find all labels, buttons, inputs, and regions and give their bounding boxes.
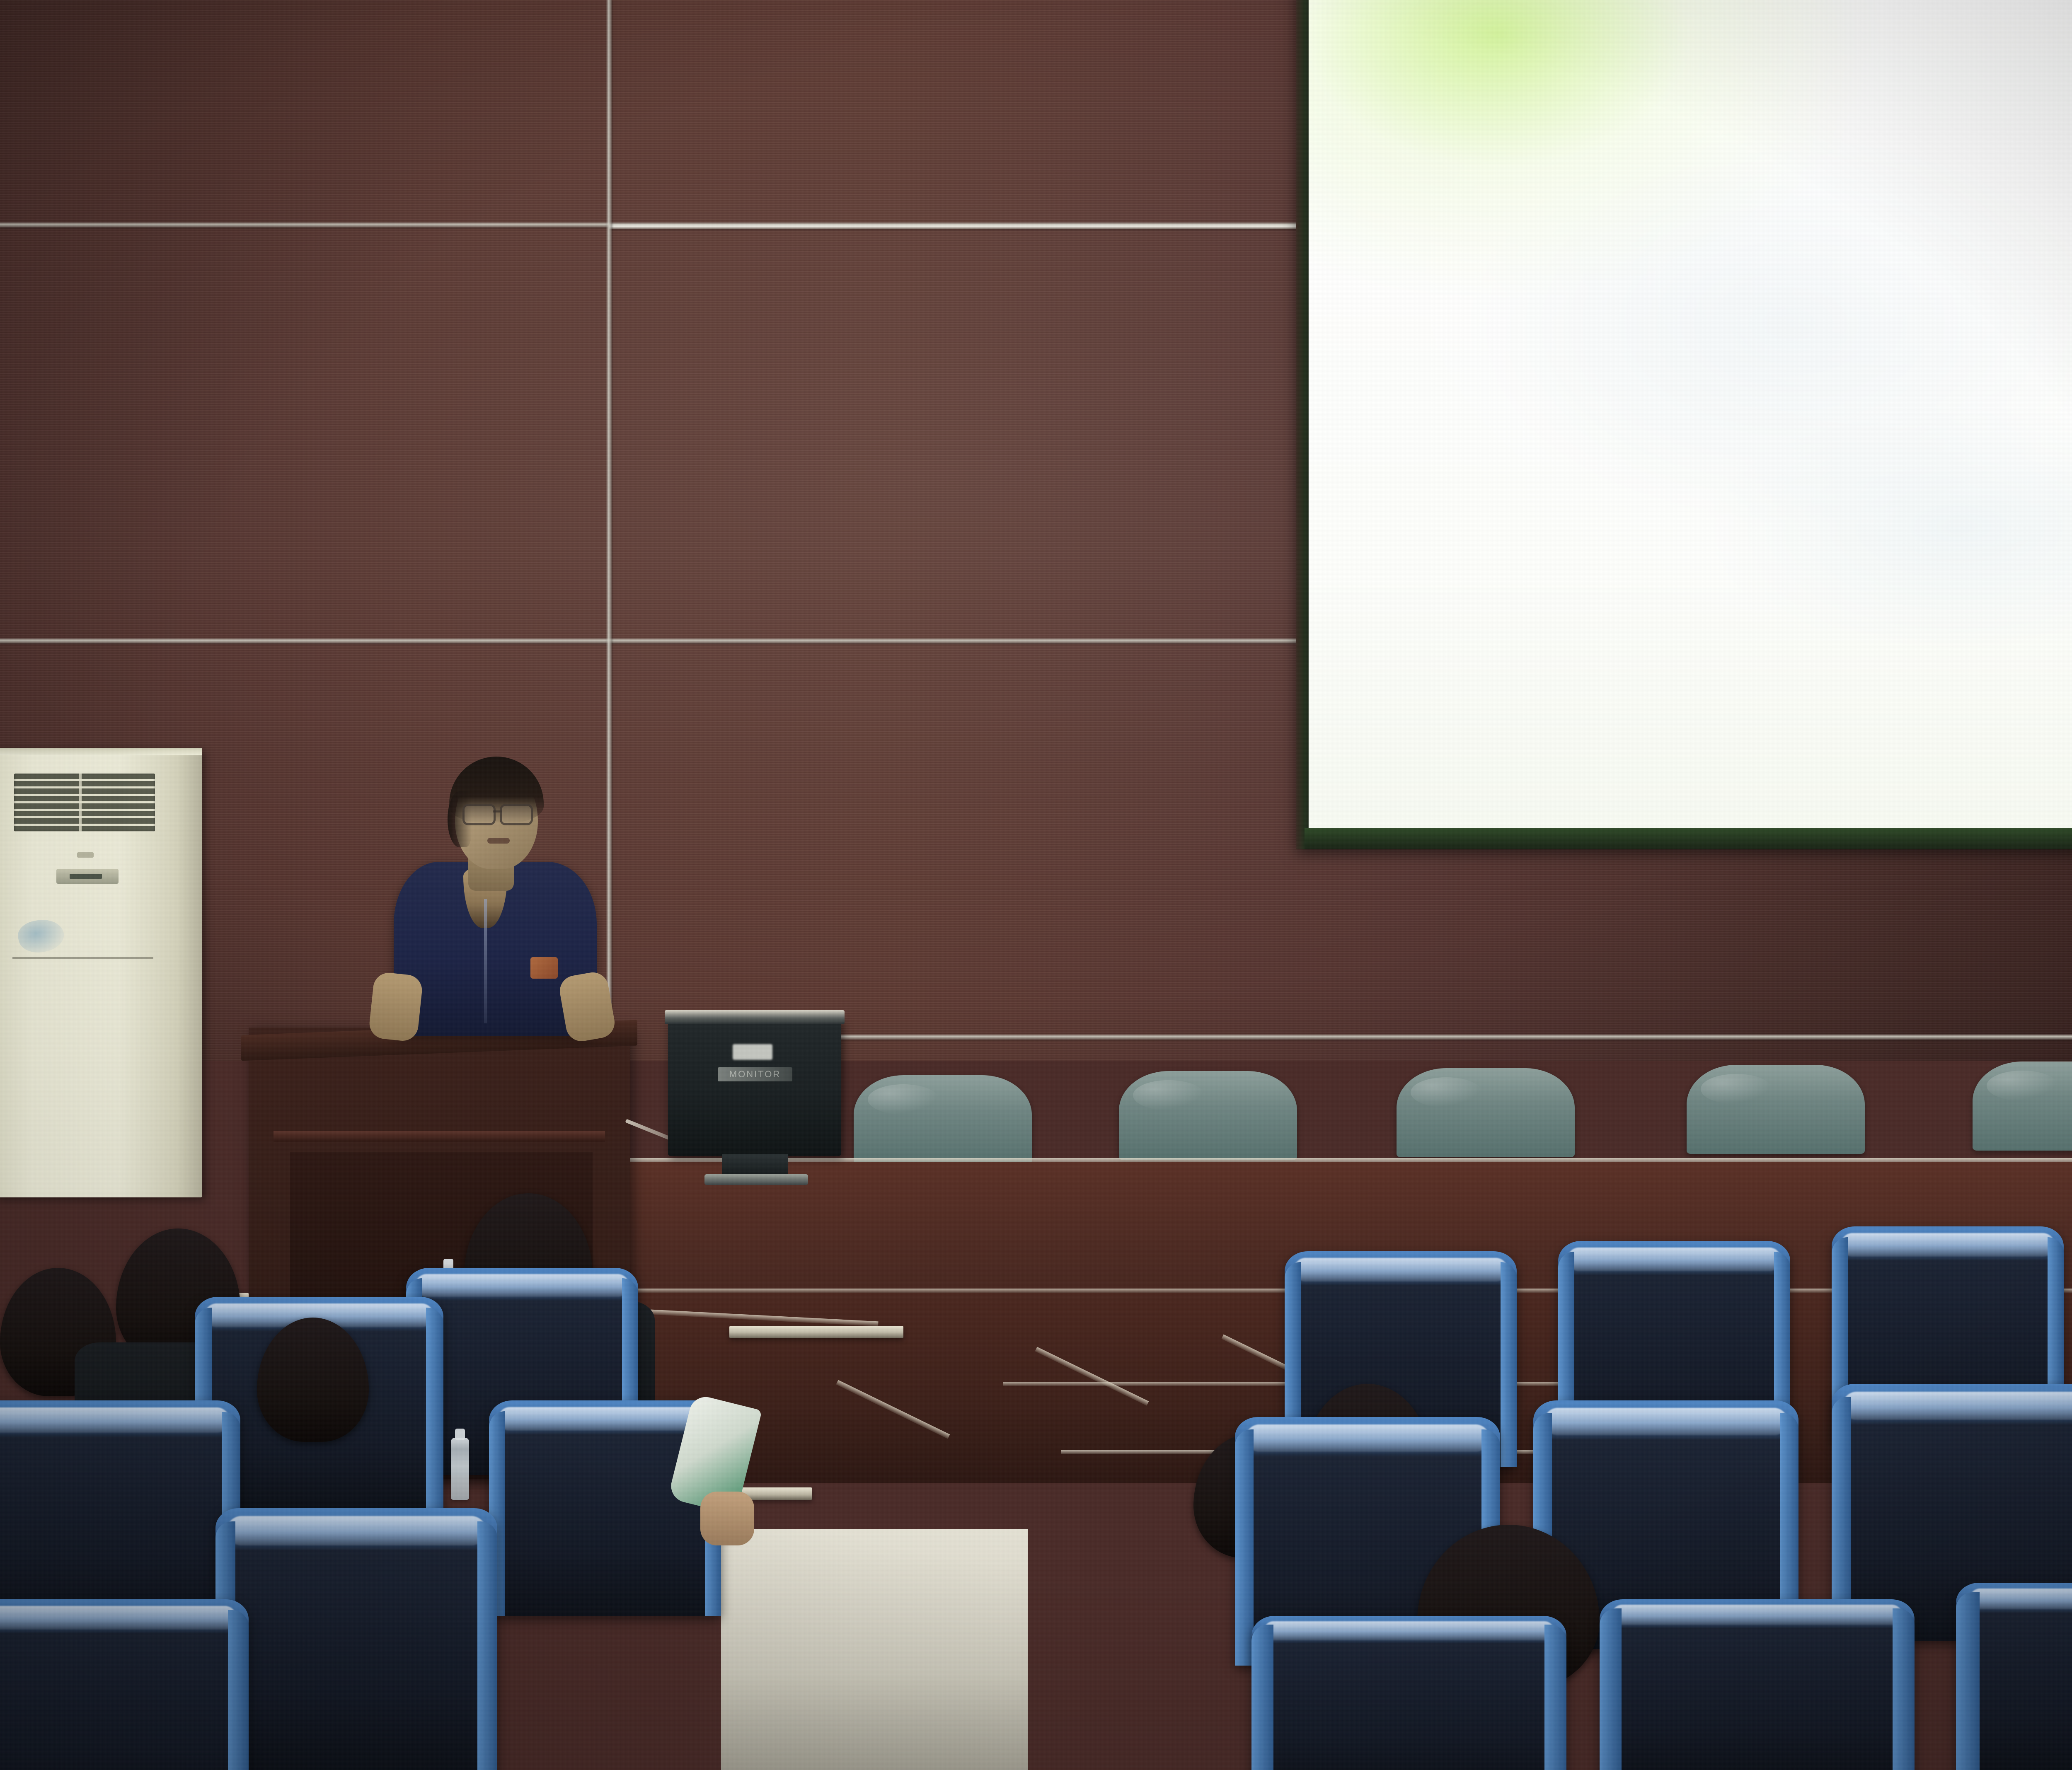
chair-rail (1246, 1424, 1490, 1452)
ac-indicator (77, 852, 94, 858)
chair-rail (1264, 1621, 1554, 1640)
ac-top-cap (0, 748, 202, 755)
wall-seam-horizontal (787, 1034, 2072, 1040)
glasses-icon (462, 804, 533, 823)
monitor-top-edge (665, 1010, 845, 1024)
presenter (365, 742, 622, 1057)
chair-frame-left (1600, 1608, 1622, 1770)
chair-rail (227, 1516, 486, 1545)
chair-frame-right (1544, 1625, 1566, 1770)
chair-frame-left (1956, 1592, 1980, 1770)
monitor-brand-label: MONITOR (718, 1067, 792, 1081)
audience-chair[interactable] (1600, 1599, 1915, 1770)
stage-chair (1687, 1065, 1865, 1154)
chair-rail (1544, 1408, 1788, 1435)
presenter-zip (484, 899, 487, 1023)
glasses-lens-left (462, 804, 496, 825)
stage-chair (1973, 1062, 2072, 1151)
auditorium-photo: MONITOR (0, 0, 2072, 1770)
stage-chair (1397, 1068, 1575, 1157)
chair-frame-right (228, 1610, 249, 1770)
ac-grille-divider (79, 774, 82, 832)
chair-rail (1567, 1248, 1781, 1271)
chair-rail (0, 1606, 237, 1630)
chair-rail (1970, 1589, 2072, 1610)
chair-frame-right (1501, 1262, 1517, 1467)
podium-shelf (274, 1131, 605, 1142)
student-hand (700, 1492, 754, 1545)
chair-frame-right (1893, 1608, 1915, 1770)
audience-chair[interactable] (1251, 1616, 1566, 1770)
chair-rail (1842, 1392, 2072, 1420)
audience-chair[interactable] (1956, 1583, 2072, 1770)
chair-rail (1841, 1233, 2054, 1257)
glasses-lens-right (500, 804, 533, 825)
chair-rail (0, 1407, 230, 1433)
audience-desk (729, 1326, 903, 1338)
air-conditioner-unit (0, 748, 202, 1197)
chair-rail (498, 1407, 712, 1431)
monitor[interactable]: MONITOR (668, 1019, 841, 1156)
wall-seam-horizontal (0, 638, 1296, 643)
chair-frame-right (426, 1308, 443, 1512)
monitor-base (704, 1174, 808, 1185)
ac-body-seam (12, 957, 153, 959)
stage-chair (1119, 1071, 1297, 1160)
monitor-sticker (733, 1044, 772, 1060)
chair-frame-right (477, 1521, 497, 1770)
screen-glare (1309, 0, 2072, 833)
ac-control-panel[interactable] (56, 869, 119, 884)
aisle-floor (721, 1529, 1028, 1770)
presenter-mouth (487, 838, 510, 844)
presenter-badge (530, 957, 558, 979)
chair-rail (1612, 1605, 1902, 1625)
screen-frame-left (1296, 0, 1310, 849)
wall-seam-horizontal (609, 224, 1297, 229)
ac-vent-grille-icon (14, 774, 155, 832)
water-bottle (451, 1438, 469, 1500)
chair-frame-left (1251, 1625, 1273, 1770)
presenter-arm-left (368, 971, 424, 1042)
ac-brand-logo-icon (15, 915, 67, 956)
chair-frame-left (1235, 1429, 1254, 1666)
audience-chair[interactable] (215, 1508, 497, 1770)
projection-screen (1296, 0, 2072, 849)
chair-rail (1294, 1258, 1507, 1282)
audience-chair[interactable] (0, 1599, 249, 1770)
ac-display-icon (70, 874, 102, 879)
screen-frame-bottom (1305, 828, 2072, 849)
chair-rail (415, 1274, 629, 1297)
stage-chair (854, 1075, 1032, 1164)
monitor-stand (722, 1154, 788, 1177)
audience-chair[interactable] (0, 1400, 240, 1632)
